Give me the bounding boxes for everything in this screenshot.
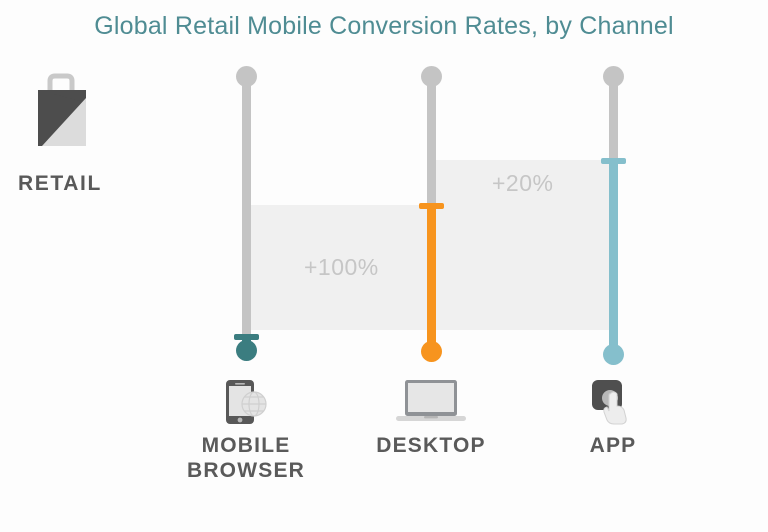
channel-label-app: APP [543,433,683,458]
laptop-icon [394,378,468,426]
infographic-root: Global Retail Mobile Conversion Rates, b… [0,0,768,532]
channel-label-mobile-browser: MOBILE BROWSER [176,433,316,483]
channel-label-line1: DESKTOP [361,433,501,458]
mobile-browser-icon [218,378,274,426]
value-tick [419,203,444,209]
channel-label-line2: BROWSER [176,458,316,483]
value-end-cap [236,340,257,361]
app-tap-icon [584,378,642,426]
channel-column-desktop[interactable]: DESKTOP [361,0,501,532]
value-end-cap [421,341,442,362]
channel-column-mobile-browser[interactable]: MOBILE BROWSER [176,0,316,532]
channel-label-line1: APP [543,433,683,458]
channel-label-desktop: DESKTOP [361,433,501,458]
value-fill [609,160,618,356]
value-fill [427,205,436,353]
track-bar [242,74,251,346]
channel-label-line1: MOBILE [176,433,316,458]
channel-column-app[interactable]: APP [543,0,683,532]
plot-area: +100% +20% [0,0,768,532]
value-tick [601,158,626,164]
value-end-cap [603,344,624,365]
